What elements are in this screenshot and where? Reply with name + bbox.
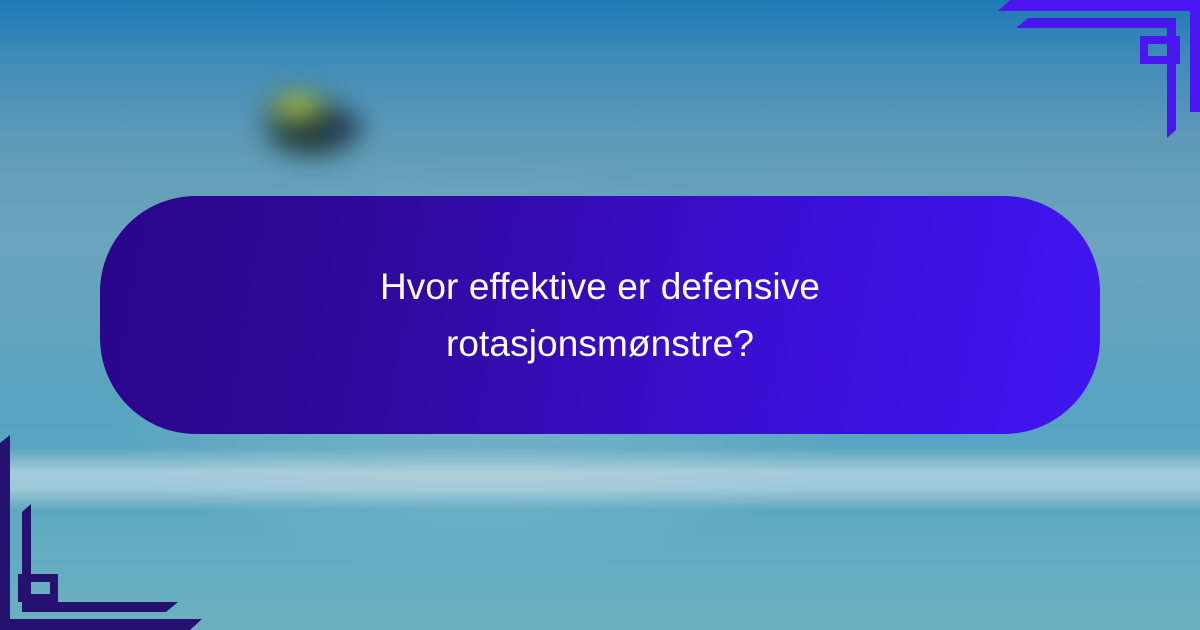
- background-blurred-object: [246, 78, 376, 162]
- question-card: Hvor effektive er defensive rotasjonsmøn…: [100, 196, 1100, 434]
- slide-canvas: Hvor effektive er defensive rotasjonsmøn…: [0, 0, 1200, 630]
- question-text: Hvor effektive er defensive rotasjonsmøn…: [330, 258, 870, 373]
